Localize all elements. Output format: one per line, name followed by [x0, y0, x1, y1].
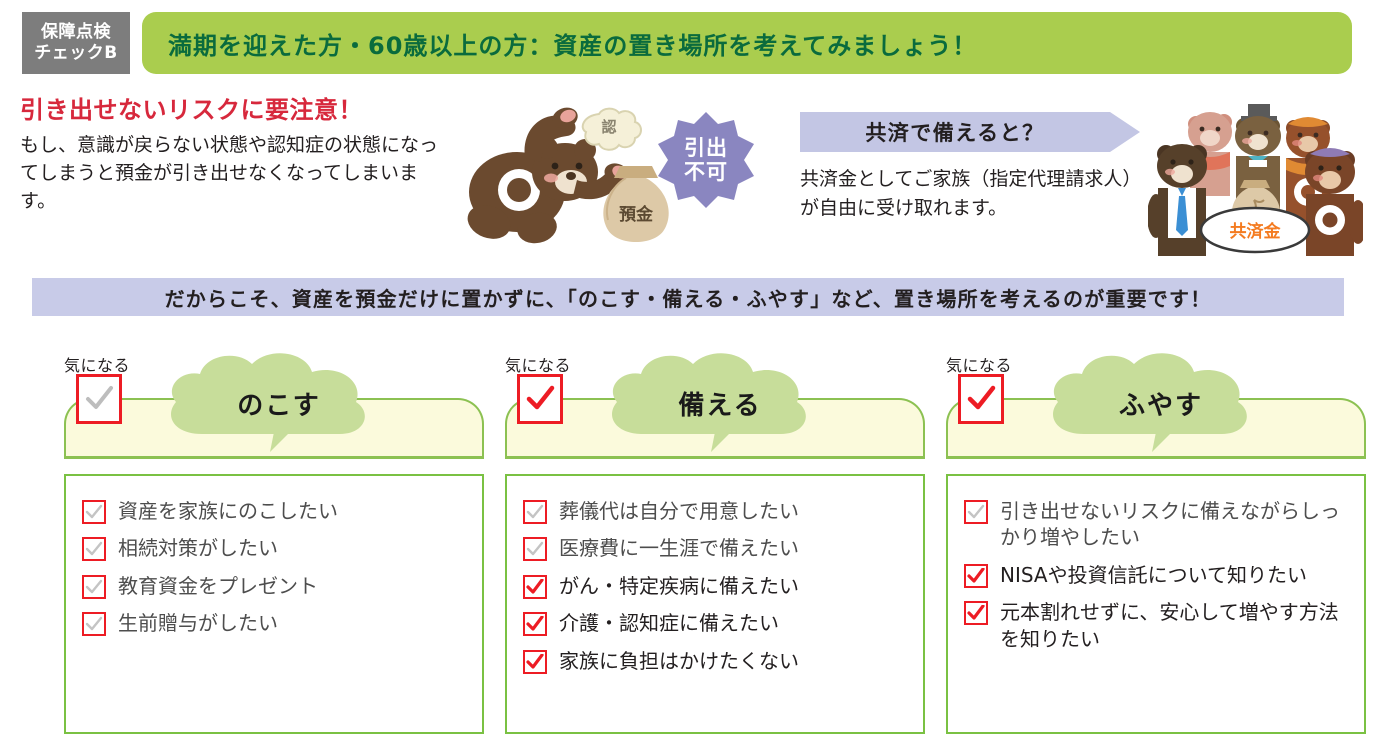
- header-banner: 満期を迎えた方・60歳以上の方：資産の置き場所を考えてみましょう！: [142, 12, 1352, 74]
- item-checkbox[interactable]: [964, 500, 988, 524]
- list-item[interactable]: 介護・認知症に備えたい: [523, 610, 905, 636]
- arrow-banner-tip-icon: [1110, 112, 1140, 152]
- card-title: ふやす: [1036, 370, 1286, 436]
- kininaru-label: 気になる: [946, 352, 1012, 376]
- check-icon: [85, 616, 103, 632]
- item-checkbox[interactable]: [82, 537, 106, 561]
- check-icon: [85, 504, 103, 520]
- item-checkbox[interactable]: [523, 650, 547, 674]
- seal-line-1: 引出: [684, 136, 728, 160]
- kyosai-arrow-banner: 共済で備えると？: [800, 112, 1145, 152]
- badge-line-1: 保障点検: [41, 22, 111, 43]
- item-label: 相続対策がしたい: [118, 535, 278, 561]
- list-item[interactable]: 医療費に一生涯で備えたい: [523, 535, 905, 561]
- kininaru-label: 気になる: [64, 352, 130, 376]
- arrow-banner-label: 共済で備えると？: [800, 112, 1110, 152]
- check-icon: [526, 616, 544, 632]
- item-label: 医療費に一生涯で備えたい: [559, 535, 799, 561]
- item-label: 家族に負担はかけたくない: [559, 648, 799, 674]
- item-checkbox[interactable]: [82, 575, 106, 599]
- seal-text: 引出 不可: [658, 112, 754, 208]
- item-label: 資産を家族にのこしたい: [118, 498, 338, 524]
- check-icon: [526, 541, 544, 557]
- check-icon: [526, 579, 544, 595]
- item-label: 介護・認知症に備えたい: [559, 610, 779, 636]
- card-fuyasu: 気になる ふやす: [928, 352, 1348, 746]
- list-item[interactable]: 資産を家族にのこしたい: [82, 498, 464, 524]
- item-checkbox[interactable]: [523, 537, 547, 561]
- card-item-list: 葬儀代は自分で用意したい 医療費に一生涯で備えたい: [505, 474, 925, 734]
- item-label: 教育資金をプレゼント: [118, 573, 318, 599]
- summary-strip: だからこそ、資産を預金だけに置かずに、「のこす・備える・ふやす」など、置き場所を…: [32, 278, 1344, 316]
- list-item[interactable]: 家族に負担はかけたくない: [523, 648, 905, 674]
- card-checkbox[interactable]: [517, 374, 563, 424]
- check-icon: [84, 385, 114, 413]
- check-icon: [967, 504, 985, 520]
- card-checkbox[interactable]: [76, 374, 122, 424]
- check-icon: [525, 385, 555, 413]
- item-checkbox[interactable]: [523, 500, 547, 524]
- item-label: 元本割れせずに、安心して増やす方法を知りたい: [1000, 599, 1346, 652]
- list-item[interactable]: 生前贈与がしたい: [82, 610, 464, 636]
- card-sonaeru: 気になる 備える: [487, 352, 907, 746]
- warning-block: 引き出せないリスクに要注意！ もし、意識が戻らない状態や認知症の状態になってしま…: [20, 96, 440, 215]
- item-label: 葬儀代は自分で用意したい: [559, 498, 799, 524]
- svg-text:認: 認: [601, 118, 616, 136]
- item-checkbox[interactable]: [82, 500, 106, 524]
- list-item[interactable]: 教育資金をプレゼント: [82, 573, 464, 599]
- item-checkbox[interactable]: [964, 601, 988, 625]
- card-title: のこす: [154, 370, 404, 436]
- item-label: 引き出せないリスクに備えながらしっかり増やしたい: [1000, 498, 1346, 551]
- check-icon: [526, 654, 544, 670]
- item-checkbox[interactable]: [523, 612, 547, 636]
- card-checkbox[interactable]: [958, 374, 1004, 424]
- warning-title: 引き出せないリスクに要注意！: [20, 96, 440, 125]
- poster-root: 保障点検 チェックB 満期を迎えた方・60歳以上の方：資産の置き場所を考えてみま…: [0, 0, 1375, 746]
- check-icon: [85, 541, 103, 557]
- check-badge: 保障点検 チェックB: [22, 12, 130, 74]
- list-item[interactable]: 引き出せないリスクに備えながらしっかり増やしたい: [964, 498, 1346, 551]
- list-item[interactable]: 葬儀代は自分で用意したい: [523, 498, 905, 524]
- kininaru-label: 気になる: [505, 352, 571, 376]
- item-label: 生前贈与がしたい: [118, 610, 278, 636]
- list-item[interactable]: 元本割れせずに、安心して増やす方法を知りたい: [964, 599, 1346, 652]
- card-item-list: 資産を家族にのこしたい 相続対策がしたい: [64, 474, 484, 734]
- summary-strip-text: だからこそ、資産を預金だけに置かずに、「のこす・備える・ふやす」など、置き場所を…: [165, 283, 1212, 312]
- check-icon: [966, 385, 996, 413]
- list-item[interactable]: NISAや投資信託について知りたい: [964, 562, 1346, 588]
- check-icon: [967, 605, 985, 621]
- badge-line-2: チェックB: [34, 43, 117, 64]
- check-icon: [967, 568, 985, 584]
- item-checkbox[interactable]: [82, 612, 106, 636]
- card-item-list: 引き出せないリスクに備えながらしっかり増やしたい NISAや投資信託について知り…: [946, 474, 1366, 734]
- kyosai-description: 共済金としてご家族（指定代理請求人）が自由に受け取れます。: [800, 165, 1140, 222]
- bear-family-icon: 共済金: [1148, 96, 1363, 256]
- seal-line-2: 不可: [684, 160, 728, 184]
- list-item[interactable]: 相続対策がしたい: [82, 535, 464, 561]
- warning-body: もし、意識が戻らない状態や認知症の状態になってしまうと預金が引き出せなくなってし…: [20, 131, 440, 215]
- check-icon: [85, 579, 103, 595]
- card-nokosu: 気になる のこす: [46, 352, 466, 746]
- item-checkbox[interactable]: [964, 564, 988, 588]
- category-cards: 気になる のこす: [0, 352, 1375, 746]
- page-title: 満期を迎えた方・60歳以上の方：資産の置き場所を考えてみましょう！: [168, 26, 977, 61]
- item-label: NISAや投資信託について知りたい: [1000, 562, 1307, 588]
- header: 保障点検 チェックB 満期を迎えた方・60歳以上の方：資産の置き場所を考えてみま…: [22, 12, 1352, 74]
- check-icon: [526, 504, 544, 520]
- card-title: 備える: [595, 370, 845, 436]
- svg-text:共済金: 共済金: [1230, 221, 1282, 242]
- item-label: がん・特定疾病に備えたい: [559, 573, 799, 599]
- item-checkbox[interactable]: [523, 575, 547, 599]
- list-item[interactable]: がん・特定疾病に備えたい: [523, 573, 905, 599]
